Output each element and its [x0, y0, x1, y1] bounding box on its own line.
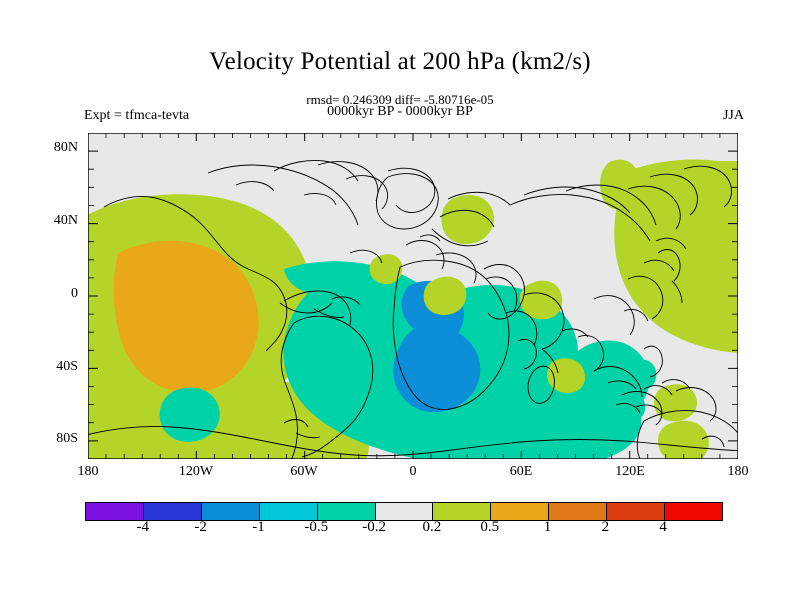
colorbar-tick--1: -1 [233, 519, 283, 536]
x-axis-label-0: 0 [383, 464, 443, 480]
x-axis-label-60e: 60E [491, 464, 551, 480]
colorbar-tick-1: 1 [523, 519, 573, 536]
x-axis-label-180e: 180 [708, 464, 768, 480]
y-axis-label-40n: 40N [26, 213, 78, 229]
region-australia-north-positive [654, 384, 697, 421]
colorbar-band-8 [548, 503, 606, 520]
x-axis-label-60w: 60W [274, 464, 334, 480]
region-java-negative-patch [605, 389, 645, 423]
colorbar-tick--0.2: -0.2 [349, 519, 399, 536]
x-axis-label-120w: 120W [166, 464, 226, 480]
experiment-label: Expt = tfmca-tevta [84, 108, 189, 124]
y-axis-label-40s: 40S [26, 359, 78, 375]
y-axis-label-80s: 80S [26, 431, 78, 447]
colorbar-band-6 [432, 503, 490, 520]
colorbar-band-5 [375, 503, 433, 520]
y-axis-label-80n: 80N [26, 140, 78, 156]
chart-title: Velocity Potential at 200 hPa (km2/s) [0, 48, 800, 76]
colorbar-band-2 [201, 503, 259, 520]
colorbar-band-7 [490, 503, 548, 520]
colorbar-band-10 [664, 503, 722, 520]
season-label: JJA [723, 108, 744, 124]
colorbar-tick-2: 2 [580, 519, 630, 536]
y-axis-label-0: 0 [26, 286, 78, 302]
colorbar-tick--0.5: -0.5 [291, 519, 341, 536]
colorbar-band-9 [606, 503, 664, 520]
velocity-potential-figure: Velocity Potential at 200 hPa (km2/s) rm… [0, 0, 800, 600]
map-plot-area [88, 133, 738, 459]
colorbar-band-3 [259, 503, 317, 520]
x-axis-label-120e: 120E [600, 464, 660, 480]
colorbar-tick--4: -4 [118, 519, 168, 536]
colorbar-band-1 [143, 503, 201, 520]
colorbar-tick-0.5: 0.5 [465, 519, 515, 536]
colorbar-tick-0.2: 0.2 [407, 519, 457, 536]
colorbar-band-0 [86, 503, 143, 520]
region-arabia-positive-patch [424, 277, 467, 315]
colorbar-tick--2: -2 [176, 519, 226, 536]
map-svg [88, 133, 738, 459]
colorbar-tick-4: 4 [638, 519, 688, 536]
x-axis-label-180w: 180 [58, 464, 118, 480]
colorbar-band-4 [317, 503, 375, 520]
